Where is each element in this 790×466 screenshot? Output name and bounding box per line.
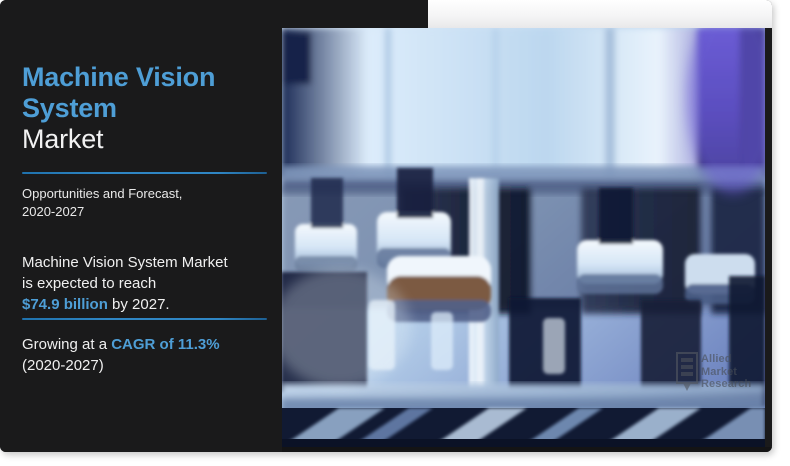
hero-photo <box>281 28 765 447</box>
photo-bottom-strip <box>281 447 772 452</box>
hero-photo-illustration <box>281 28 765 447</box>
subtitle-line-2: 2020-2027 <box>22 203 274 221</box>
title-line-2: System <box>22 93 274 124</box>
forecast-line-1: Machine Vision System Market <box>22 252 278 273</box>
divider-top <box>22 172 267 174</box>
title-line-1: Machine Vision <box>22 62 274 93</box>
title-line-3: Market <box>22 124 274 155</box>
photo-top-dark-strip <box>281 0 428 28</box>
forecast-line-2: is expected to reach <box>22 273 278 294</box>
title-line-2-highlight: System <box>22 93 117 123</box>
cagr-line-1: Growing at a CAGR of 11.3% <box>22 334 278 355</box>
subtitle-line-1: Opportunities and Forecast, <box>22 185 274 203</box>
cagr-value: CAGR of 11.3% <box>111 336 219 353</box>
forecast-amount-suffix: by 2027. <box>108 296 170 313</box>
photo-top-light-strip <box>428 0 772 28</box>
text-panel: Machine Vision System Market Opportuniti… <box>0 0 282 452</box>
cagr-prefix: Growing at a <box>22 336 111 353</box>
card-surface: Machine Vision System Market Opportuniti… <box>0 0 772 452</box>
cagr-statement: Growing at a CAGR of 11.3% (2020-2027) <box>22 334 278 376</box>
forecast-statement: Machine Vision System Market is expected… <box>22 252 278 315</box>
subtitle: Opportunities and Forecast, 2020-2027 <box>22 185 274 221</box>
forecast-line-3: $74.9 billion by 2027. <box>22 294 278 315</box>
page-title: Machine Vision System Market <box>22 62 274 155</box>
divider-bottom <box>22 318 267 320</box>
cagr-period: (2020-2027) <box>22 355 278 376</box>
report-banner-card: Machine Vision System Market Opportuniti… <box>0 0 790 466</box>
forecast-amount: $74.9 billion <box>22 296 108 313</box>
